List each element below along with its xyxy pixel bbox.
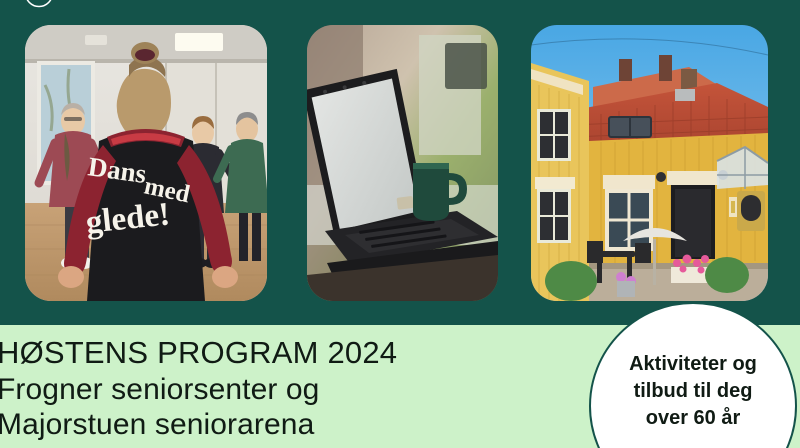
- photo-laptop-and-mug: [307, 25, 498, 301]
- photo-row: Dans med glede!: [0, 0, 800, 325]
- photo-dancing-seniors-image: Dans med glede!: [25, 25, 267, 301]
- brand-name: Oslo: [63, 0, 99, 3]
- subtitle-line-1: Frogner seniorsenter og: [0, 372, 597, 407]
- photo-laptop-and-mug-image: [307, 25, 498, 301]
- photo-dancing-seniors: Dans med glede!: [25, 25, 267, 301]
- brand-bar: Oslo: [24, 0, 99, 8]
- page-title: HØSTENS PROGRAM 2024: [0, 334, 597, 372]
- badge-line-3: over 60 år: [646, 405, 741, 432]
- photo-yellow-building-image: [531, 25, 768, 301]
- headline-block: HØSTENS PROGRAM 2024 Frogner seniorsente…: [0, 334, 597, 442]
- oslo-municipality-crest-icon: [24, 0, 54, 8]
- badge-line-2: tilbud til deg: [634, 378, 753, 405]
- poster-root: Oslo: [0, 0, 800, 448]
- photo-yellow-building: [531, 25, 768, 301]
- badge-line-1: Aktiviteter og: [629, 351, 757, 378]
- subtitle-line-2: Majorstuen seniorarena: [0, 407, 597, 442]
